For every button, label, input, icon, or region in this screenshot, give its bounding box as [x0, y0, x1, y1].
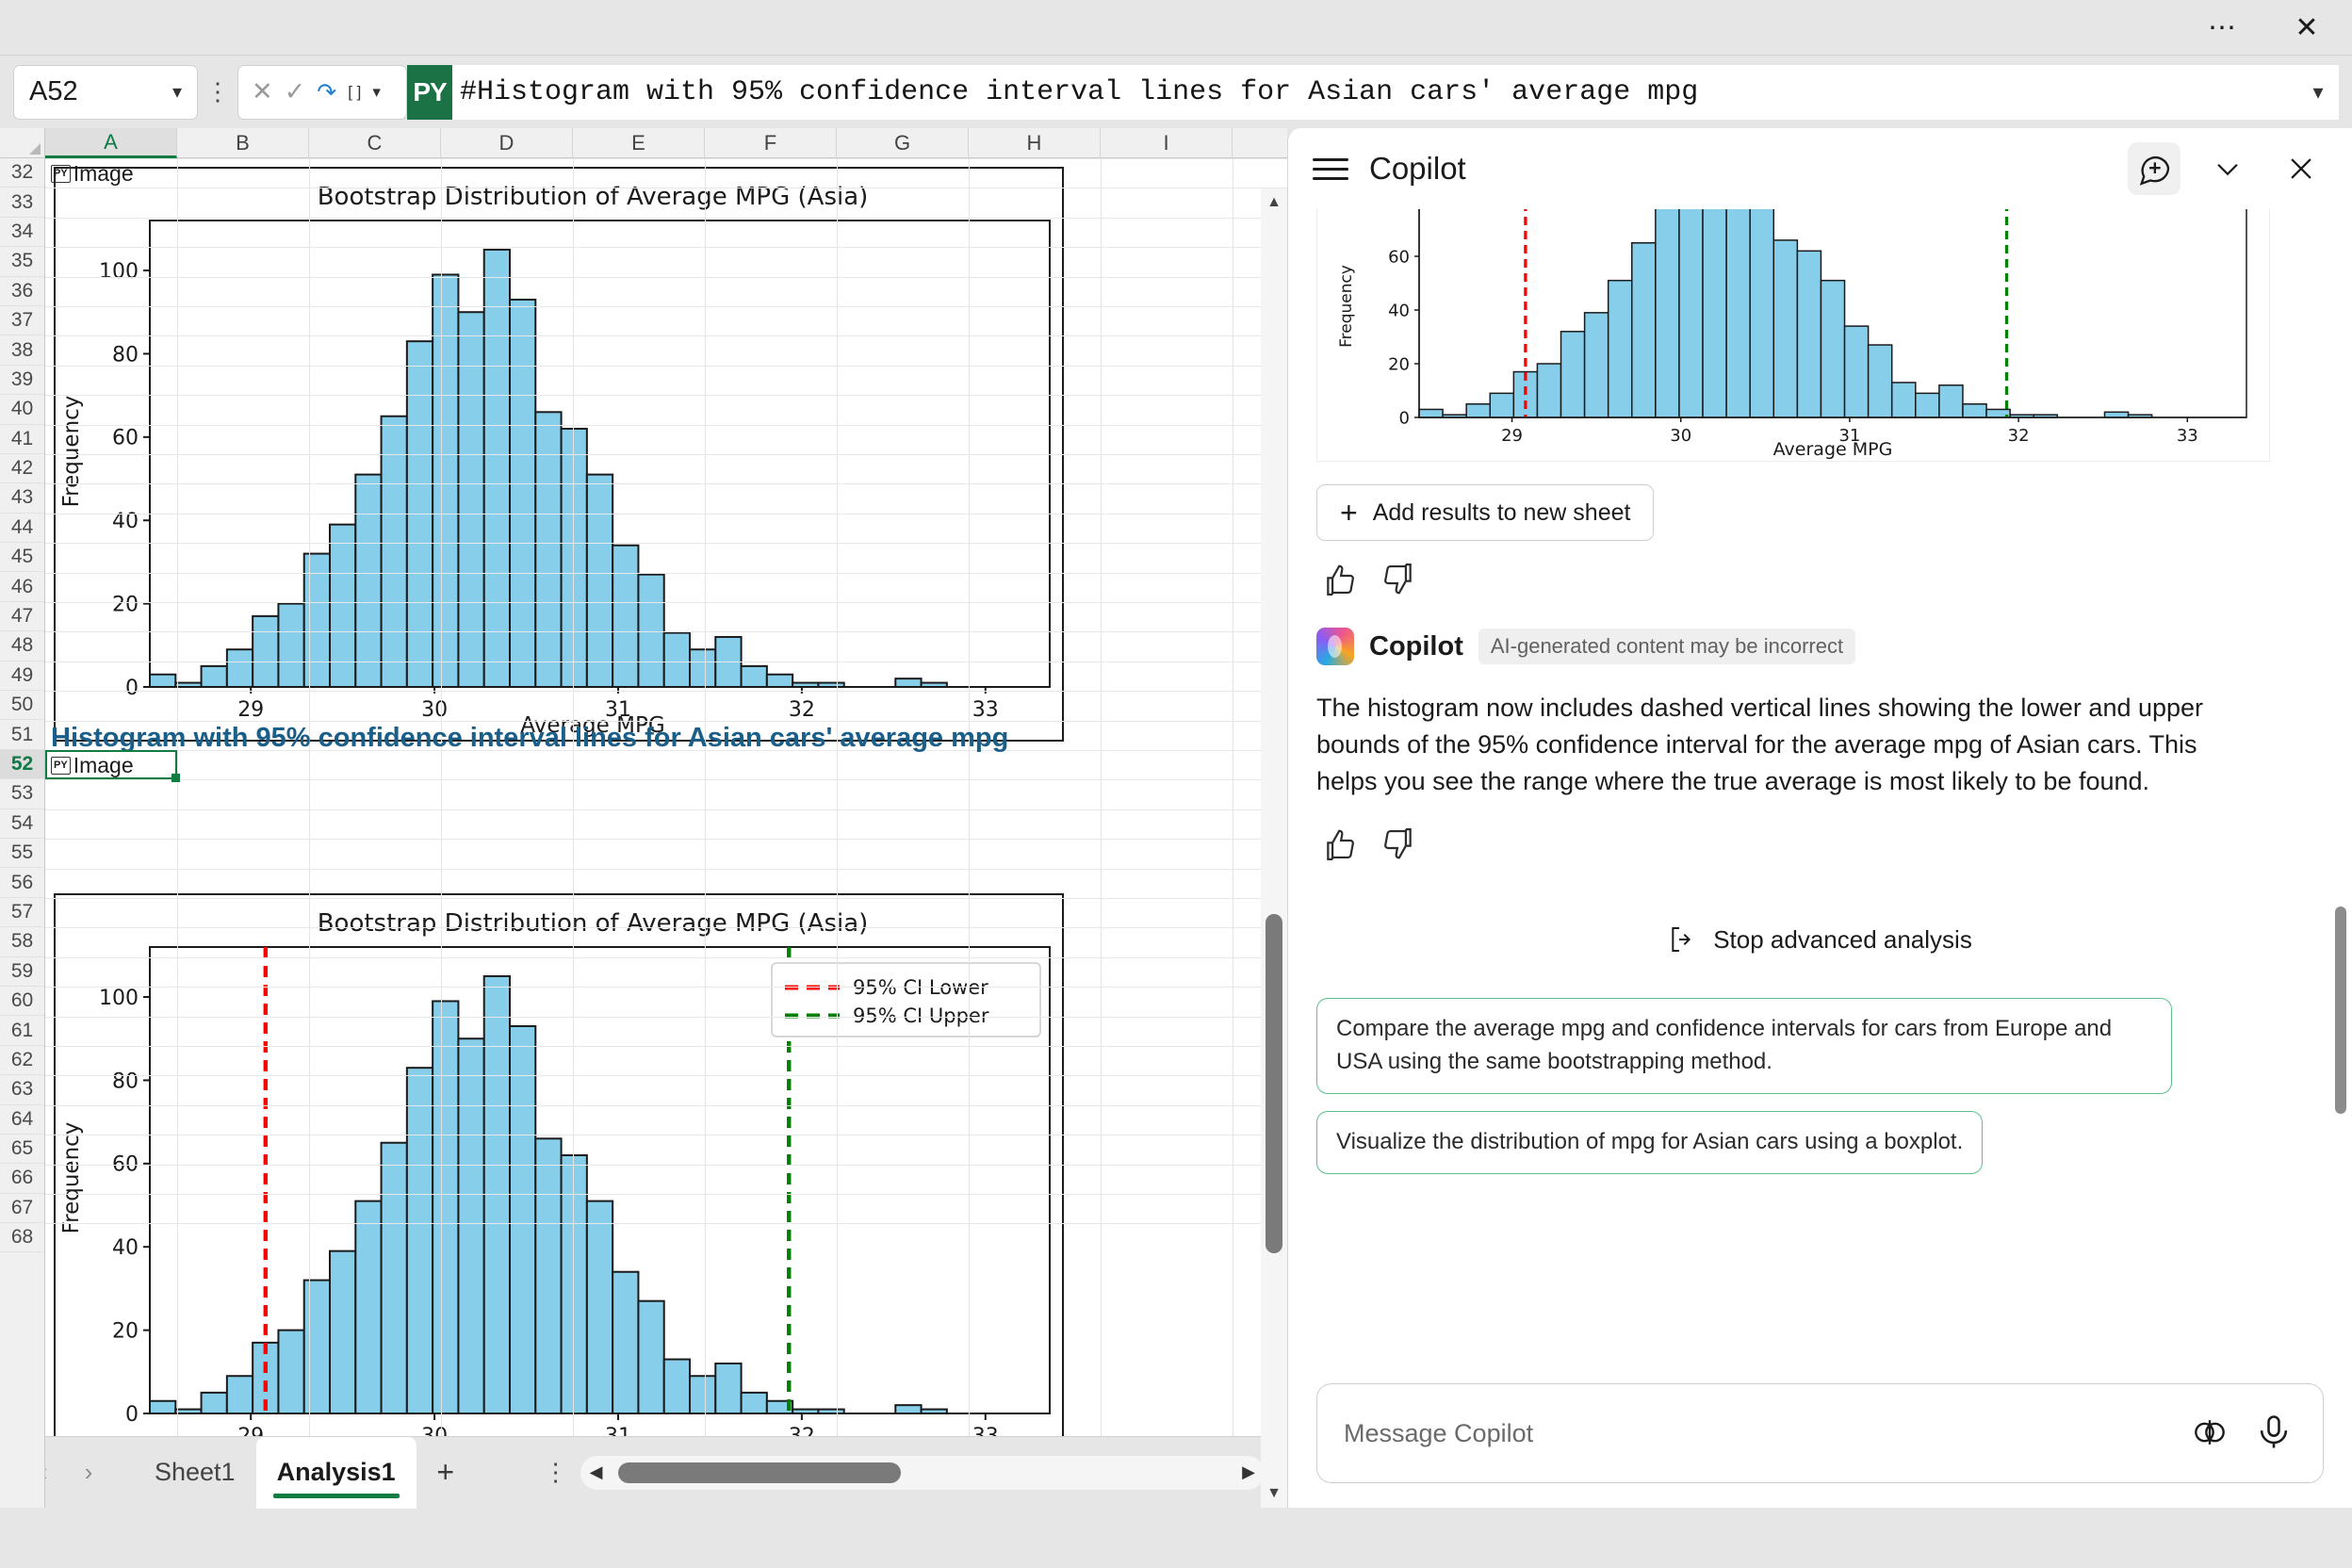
thumbs-down-icon[interactable]	[1380, 826, 1418, 864]
histogram-bar	[150, 1401, 175, 1413]
histogram-bar	[690, 649, 715, 687]
copilot-conversation[interactable]: 29303132330204060 Frequency Average MPG …	[1288, 209, 2352, 1383]
exit-icon	[1668, 924, 1698, 955]
grid-line	[177, 158, 178, 1508]
histogram-bar	[664, 633, 690, 687]
suggestion-chip-1[interactable]: Compare the average mpg and confidence i…	[1316, 998, 2172, 1094]
row-header-51[interactable]: 51	[0, 720, 44, 749]
grid-line	[45, 425, 1287, 426]
histogram-bar	[227, 649, 253, 687]
histogram-bar	[330, 1251, 355, 1413]
row-header-62[interactable]: 62	[0, 1046, 44, 1075]
grid-line	[705, 158, 706, 1508]
formula-input[interactable]: #Histogram with 95% confidence interval …	[452, 65, 2297, 120]
y-tick-label: 0	[125, 677, 139, 700]
histogram-bar	[638, 575, 663, 687]
histogram-bar	[638, 1301, 663, 1413]
histogram-bar	[587, 475, 612, 687]
row-header-39[interactable]: 39	[0, 366, 44, 395]
thumbs-up-icon[interactable]	[1322, 826, 1360, 864]
histogram-bar	[1703, 209, 1726, 417]
column-header-row: ABCDEFGHI	[0, 128, 1287, 158]
select-all-corner[interactable]	[0, 128, 45, 157]
histogram-bar	[1939, 385, 1963, 417]
histogram-bar	[330, 525, 355, 687]
histogram-bar	[535, 1138, 561, 1413]
x-tick-label: 33	[972, 698, 999, 722]
sheet-tab-sheet1[interactable]: Sheet1	[134, 1437, 256, 1509]
suggestion-chip-2[interactable]: Visualize the distribution of mpg for As…	[1316, 1111, 1983, 1174]
copilot-message: The histogram now includes dashed vertic…	[1316, 690, 2221, 800]
grid-line	[45, 869, 1287, 870]
y-tick-label: 40	[112, 1236, 139, 1260]
row-header-65[interactable]: 65	[0, 1135, 44, 1164]
grid-line	[573, 158, 574, 1508]
grid-line	[45, 1075, 1287, 1076]
grid-line	[45, 514, 1287, 514]
row-header-61[interactable]: 61	[0, 1016, 44, 1045]
formula-bar: A52 ▾ ⋮ ✕ ✓ ↷ [ ] ▾ PY #Histogram with 9…	[0, 55, 2352, 128]
microphone-icon[interactable]	[2253, 1412, 2296, 1455]
row-header-49[interactable]: 49	[0, 661, 44, 691]
copilot-title: Copilot	[1369, 151, 1466, 187]
copilot-author-row: Copilot AI-generated content may be inco…	[1316, 628, 2324, 665]
close-window-button[interactable]: ✕	[2286, 7, 2327, 48]
grid-line	[45, 483, 1287, 484]
copilot-panel: Copilot	[1287, 128, 2352, 1508]
histogram-bar	[253, 616, 278, 687]
stop-label: Stop advanced analysis	[1713, 925, 1972, 955]
grid-line	[45, 631, 1287, 632]
histogram-bar	[382, 416, 407, 687]
row-header-50[interactable]: 50	[0, 691, 44, 720]
row-header-46[interactable]: 46	[0, 572, 44, 601]
chevron-down-icon[interactable]	[2201, 142, 2254, 195]
histogram-bar	[1963, 404, 1986, 417]
row-header-66[interactable]: 66	[0, 1164, 44, 1193]
name-box[interactable]: A52 ▾	[13, 65, 198, 120]
histogram-bar	[1419, 409, 1443, 417]
histogram-bar	[202, 1393, 227, 1413]
row-header-52[interactable]: 52	[0, 750, 44, 779]
row-header-68[interactable]: 68	[0, 1223, 44, 1252]
add-results-to-new-sheet-button[interactable]: + Add results to new sheet	[1316, 484, 1654, 541]
copilot-logo-icon	[1316, 628, 1354, 665]
histogram-bar	[1821, 281, 1844, 417]
python-badge: PY	[407, 65, 452, 120]
y-axis-label: Frequency	[59, 1122, 84, 1234]
grid-line	[45, 602, 1287, 603]
name-box-value: A52	[29, 76, 78, 107]
x-axis-label: Average MPG	[1773, 439, 1893, 460]
brackets-icon: [ ]	[348, 83, 361, 102]
ai-disclaimer: AI-generated content may be incorrect	[1478, 629, 1855, 664]
row-header-63[interactable]: 63	[0, 1075, 44, 1104]
histogram-bar	[355, 475, 381, 687]
grid-line	[45, 188, 1287, 188]
histogram-bar	[1609, 281, 1632, 417]
histogram-bar	[1490, 393, 1513, 417]
histogram-bar	[587, 1201, 612, 1413]
confirm-icon[interactable]: ✓	[285, 77, 306, 106]
column-header-c[interactable]: C	[309, 128, 441, 158]
histogram-bar	[510, 300, 535, 687]
grid-line	[45, 1135, 1287, 1135]
row-header-42[interactable]: 42	[0, 454, 44, 483]
histogram-bar	[664, 1360, 690, 1413]
grid-line	[309, 158, 310, 1508]
y-tick-label: 20	[112, 594, 139, 617]
main-area: ABCDEFGHI Bootstrap Distribution of Aver…	[0, 128, 2352, 1508]
histogram-bar	[458, 312, 483, 687]
scroll-left-icon[interactable]: ◀	[590, 1462, 603, 1482]
histogram-bar	[715, 1364, 741, 1413]
grid-line	[45, 839, 1287, 840]
histogram-bar	[895, 678, 921, 687]
histogram-bar	[1585, 313, 1609, 417]
column-header-a[interactable]: A	[45, 128, 177, 158]
grid-line	[45, 1105, 1287, 1106]
y-tick-label: 80	[112, 1070, 139, 1093]
grid-line	[1233, 158, 1233, 1508]
column-header-g[interactable]: G	[837, 128, 969, 158]
more-options-button[interactable]: ⋯	[2201, 7, 2243, 48]
grid-line	[45, 987, 1287, 988]
row-header-45[interactable]: 45	[0, 543, 44, 572]
cancel-icon[interactable]: ✕	[252, 77, 273, 106]
histogram-bar	[278, 1331, 303, 1413]
row-header-54[interactable]: 54	[0, 809, 44, 839]
grid-line	[45, 661, 1287, 662]
formula-bar-kebab-icon[interactable]: ⋮	[198, 65, 237, 120]
row-header-40[interactable]: 40	[0, 395, 44, 424]
y-tick-label: 60	[1388, 247, 1410, 267]
y-tick-label: 20	[112, 1320, 139, 1344]
histogram-bar	[510, 1026, 535, 1413]
row-header-38[interactable]: 38	[0, 335, 44, 365]
chart-row52-svg: Bootstrap Distribution of Average MPG (A…	[56, 895, 1066, 1470]
histogram-bar	[484, 250, 510, 687]
histogram-bar	[1797, 251, 1821, 417]
cell-a32[interactable]: PYImage	[51, 161, 134, 187]
histogram-bar	[1892, 383, 1916, 417]
histogram-bar	[1466, 404, 1490, 417]
chevron-down-icon[interactable]: ▾	[172, 80, 182, 104]
y-tick-label: 0	[1399, 408, 1410, 428]
grid-line	[45, 366, 1287, 367]
y-tick-label: 20	[1388, 354, 1410, 374]
formula-expand-icon[interactable]: ▾	[2297, 65, 2339, 120]
histogram-bar	[1750, 209, 1773, 417]
histogram-bar	[1679, 209, 1703, 417]
y-tick-label: 100	[99, 987, 139, 1010]
thumbs-up-icon[interactable]	[1322, 562, 1360, 599]
row-header-37[interactable]: 37	[0, 306, 44, 335]
y-tick-label: 0	[125, 1403, 139, 1427]
column-header-d[interactable]: D	[441, 128, 573, 158]
feedback-row-1	[1316, 562, 2324, 599]
histogram-bar	[355, 1201, 381, 1413]
histogram-bar	[1773, 240, 1797, 417]
grid-line	[45, 1165, 1287, 1166]
scroll-up-icon[interactable]: ▲	[1261, 188, 1287, 217]
histogram-bar	[150, 675, 175, 687]
chart-copilot[interactable]: 29303132330204060 Frequency Average MPG	[1316, 209, 2270, 462]
histogram-bar	[562, 429, 587, 687]
column-header-f[interactable]: F	[705, 128, 837, 158]
thumbs-down-icon[interactable]	[1380, 562, 1418, 599]
chart-copilot-svg: 29303132330204060 Frequency Average MPG	[1317, 209, 2271, 463]
copilot-scroll-thumb[interactable]	[2335, 906, 2346, 1114]
histogram-bar	[895, 1405, 921, 1413]
row-header-35[interactable]: 35	[0, 247, 44, 276]
grid-line	[45, 158, 1287, 159]
grid-line	[45, 898, 1287, 899]
grid-line	[45, 721, 1287, 722]
feedback-row-2	[1316, 826, 2324, 864]
copilot-author-name: Copilot	[1369, 631, 1463, 662]
stop-advanced-analysis-button[interactable]: Stop advanced analysis	[1316, 924, 2324, 955]
grid-line	[1101, 158, 1102, 1508]
row-header-33[interactable]: 33	[0, 188, 44, 217]
histogram-bar	[767, 675, 792, 687]
column-header-h[interactable]: H	[969, 128, 1101, 158]
row-header-55[interactable]: 55	[0, 839, 44, 868]
cell-a51[interactable]: Histogram with 95% confidence interval l…	[51, 723, 1008, 754]
grid-line	[45, 957, 1287, 958]
vertical-scrollbar[interactable]: ▲ ▼	[1261, 188, 1287, 1508]
grid-line	[45, 1223, 1287, 1224]
histogram-bar	[1726, 209, 1750, 417]
x-tick-label: 32	[2008, 426, 2030, 446]
cell-text: Image	[73, 161, 134, 187]
row-header-60[interactable]: 60	[0, 987, 44, 1016]
histogram-bar	[202, 666, 227, 687]
histogram-bar	[278, 604, 303, 687]
grid-line	[45, 306, 1287, 307]
grid-line	[969, 158, 970, 1508]
grid-line	[45, 779, 1287, 780]
histogram-bar	[690, 1376, 715, 1413]
new-chat-icon[interactable]	[2128, 142, 2180, 195]
grid-line	[45, 927, 1287, 928]
x-tick-label: 33	[2177, 426, 2198, 446]
row-header-58[interactable]: 58	[0, 927, 44, 956]
add-sheet-button[interactable]: +	[416, 1450, 475, 1495]
vertical-scroll-thumb[interactable]	[1266, 914, 1282, 1253]
row-header-34[interactable]: 34	[0, 218, 44, 247]
row-header-43[interactable]: 43	[0, 483, 44, 513]
prompt-guide-icon[interactable]	[2189, 1412, 2232, 1455]
y-axis-label: Frequency	[1337, 265, 1356, 348]
y-axis-label: Frequency	[59, 396, 84, 508]
sheet-tab-bar: ‹ › Sheet1 Analysis1 + ⋮ ◀ ▶	[0, 1436, 1287, 1508]
grid-area[interactable]: Bootstrap Distribution of Average MPG (A…	[0, 158, 1287, 1508]
row-header-56[interactable]: 56	[0, 868, 44, 897]
sheet-tab-analysis1[interactable]: Analysis1	[256, 1437, 416, 1509]
grid-line	[45, 809, 1287, 810]
copilot-footer: Message Copilot	[1288, 1383, 2352, 1508]
histogram-bar	[1632, 243, 1656, 417]
grid-line	[45, 691, 1287, 692]
histogram-bar	[612, 1272, 638, 1413]
row-header-53[interactable]: 53	[0, 779, 44, 808]
grid-line	[45, 543, 1287, 544]
grid-line	[45, 1046, 1287, 1047]
next-sheet-icon[interactable]: ›	[66, 1450, 111, 1495]
row-header-59[interactable]: 59	[0, 957, 44, 987]
histogram-bar	[612, 546, 638, 687]
x-tick-label: 32	[789, 698, 815, 722]
histogram-bar	[742, 1393, 767, 1413]
histogram-bar	[407, 1068, 433, 1413]
grid-line	[837, 158, 838, 1508]
histogram-bar	[2104, 412, 2128, 417]
grid-line	[45, 335, 1287, 336]
grid-line	[45, 395, 1287, 396]
grid-line	[45, 218, 1287, 219]
row-header-32[interactable]: 32	[0, 158, 44, 188]
chart-title: Bootstrap Distribution of Average MPG (A…	[318, 909, 869, 938]
horizontal-scrollbar[interactable]: ◀ ▶	[580, 1456, 1265, 1490]
x-tick-label: 29	[237, 698, 264, 722]
histogram-bar	[382, 1143, 407, 1413]
spreadsheet: ABCDEFGHI Bootstrap Distribution of Aver…	[0, 128, 1287, 1508]
row-header-47[interactable]: 47	[0, 602, 44, 631]
y-tick-label: 60	[112, 427, 139, 450]
chart-row52[interactable]: Bootstrap Distribution of Average MPG (A…	[54, 893, 1064, 1468]
histogram-bar	[304, 554, 330, 687]
histogram-bar	[1561, 332, 1585, 417]
histogram-bar	[1656, 209, 1679, 417]
horizontal-scroll-thumb[interactable]	[618, 1462, 901, 1483]
x-tick-label: 29	[1501, 426, 1523, 446]
chevron-down-icon[interactable]: ▾	[372, 83, 381, 102]
row-header-57[interactable]: 57	[0, 898, 44, 927]
add-results-label: Add results to new sheet	[1373, 499, 1631, 527]
row-header-36[interactable]: 36	[0, 277, 44, 306]
histogram-bar	[227, 1376, 253, 1413]
close-icon[interactable]	[2275, 142, 2327, 195]
scroll-down-icon[interactable]: ▼	[1261, 1479, 1287, 1508]
grid-line	[45, 1194, 1287, 1195]
histogram-bar	[1845, 326, 1869, 417]
histogram-bar	[1869, 345, 1892, 417]
histogram-bar	[458, 1038, 483, 1413]
row-header-41[interactable]: 41	[0, 425, 44, 454]
chart-row32-svg: Bootstrap Distribution of Average MPG (A…	[56, 169, 1066, 743]
python-cell-icon: PY	[51, 165, 71, 183]
row-header-48[interactable]: 48	[0, 631, 44, 661]
grid-line	[45, 454, 1287, 455]
y-tick-label: 100	[99, 260, 139, 284]
row-header-67[interactable]: 67	[0, 1194, 44, 1223]
x-tick-label: 30	[421, 698, 448, 722]
grid-line	[441, 158, 442, 1508]
grid-line	[45, 1017, 1287, 1018]
message-input-placeholder[interactable]: Message Copilot	[1344, 1419, 2168, 1448]
message-input-wrapper[interactable]: Message Copilot	[1316, 1383, 2324, 1483]
histogram-bar	[1916, 393, 1939, 417]
row-header-44[interactable]: 44	[0, 514, 44, 543]
x-tick-label: 30	[1670, 426, 1691, 446]
column-header-i[interactable]: I	[1101, 128, 1233, 158]
histogram-bar	[1537, 364, 1560, 417]
hamburger-icon[interactable]	[1313, 158, 1348, 180]
sheet-tabs-kebab-icon[interactable]: ⋮	[531, 1458, 580, 1487]
scroll-right-icon[interactable]: ▶	[1242, 1462, 1255, 1482]
grid-line	[45, 573, 1287, 574]
histogram-bar	[433, 1001, 458, 1413]
plus-icon: +	[1340, 498, 1358, 528]
grid-line	[45, 247, 1287, 248]
cell-selection-box[interactable]	[45, 750, 177, 779]
y-tick-label: 40	[1388, 301, 1410, 320]
window-title-bar: ⋯ ✕	[0, 0, 2352, 55]
histogram-bar	[742, 666, 767, 687]
y-tick-label: 80	[112, 343, 139, 367]
row-header-64[interactable]: 64	[0, 1105, 44, 1135]
formula-action-buttons: ✕ ✓ ↷ [ ] ▾	[237, 65, 407, 120]
row-header-column: 3233343536373839404142434445464748495051…	[0, 158, 45, 1508]
cells-layer: Bootstrap Distribution of Average MPG (A…	[45, 158, 1287, 1508]
column-header-b[interactable]: B	[177, 128, 309, 158]
grid-line	[45, 277, 1287, 278]
python-reset-icon[interactable]: ↷	[317, 78, 336, 106]
column-header-e[interactable]: E	[573, 128, 705, 158]
copilot-header: Copilot	[1288, 128, 2352, 209]
histogram-bar	[304, 1281, 330, 1413]
